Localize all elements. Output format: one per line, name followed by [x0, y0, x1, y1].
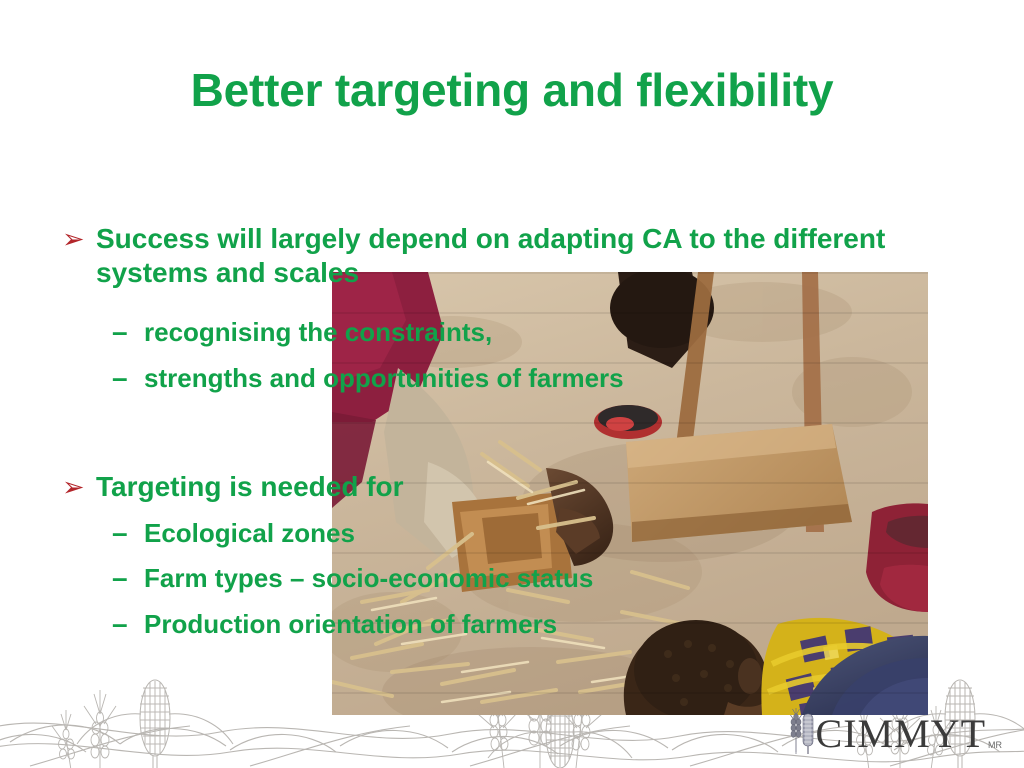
bullet-item-3: – strengths and opportunities of farmers — [112, 361, 624, 395]
dash-bullet-icon: – — [112, 607, 144, 641]
trademark-mark: MR — [988, 741, 1002, 750]
dash-bullet-icon: – — [112, 315, 144, 349]
bullet-item-4-text: Targeting is needed for — [96, 470, 404, 504]
bullet-item-3-text: strengths and opportunities of farmers — [144, 361, 624, 395]
bullet-item-6-text: Farm types – socio-economic status — [144, 561, 593, 595]
arrow-bullet-icon: ➢ — [62, 470, 96, 504]
dash-bullet-icon: – — [112, 561, 144, 595]
bullet-item-2-text: recognising the constraints, — [144, 315, 492, 349]
wheat-and-maize-mark-icon — [790, 708, 816, 754]
presentation-slide: Better targeting and flexibility ➢ Succe… — [0, 0, 1024, 768]
arrow-bullet-icon: ➢ — [62, 222, 96, 256]
dash-bullet-icon: – — [112, 361, 144, 395]
bullet-item-6: – Farm types – socio-economic status — [112, 561, 593, 595]
bullet-item-4: ➢ Targeting is needed for — [62, 470, 942, 504]
bullet-item-5-text: Ecological zones — [144, 516, 355, 550]
bullet-item-5: – Ecological zones — [112, 516, 355, 550]
dash-bullet-icon: – — [112, 516, 144, 550]
bullet-item-1-text: Success will largely depend on adapting … — [96, 222, 926, 290]
cimmyt-logo: CIMMYT MR — [790, 708, 1002, 754]
bullet-item-2: – recognising the constraints, — [112, 315, 492, 349]
bullet-item-1: ➢ Success will largely depend on adaptin… — [62, 222, 942, 290]
bullet-item-7-text: Production orientation of farmers — [144, 607, 557, 641]
bullet-item-7: – Production orientation of farmers — [112, 607, 557, 641]
slide-title: Better targeting and flexibility — [0, 62, 1024, 118]
cimmyt-wordmark: CIMMYT — [816, 714, 986, 754]
